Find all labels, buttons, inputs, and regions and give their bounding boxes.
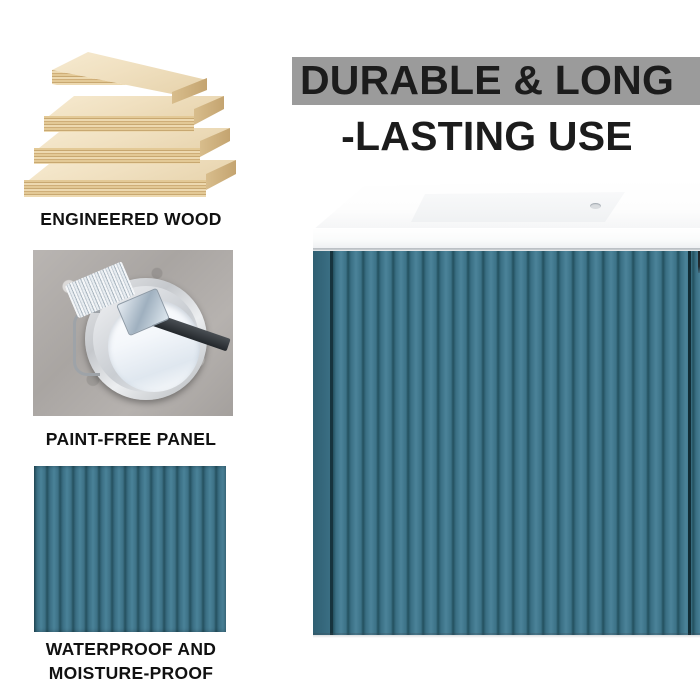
vanity-product-image	[300, 178, 700, 648]
cabinet-door-seam	[688, 251, 691, 635]
faucet-hole	[590, 203, 601, 209]
cabinet-fluted-doors	[333, 251, 700, 635]
product-feature-graphic: DURABLE & LONG -LASTING USE ENGINEERED W…	[0, 0, 700, 700]
headline-block: DURABLE & LONG -LASTING USE	[292, 52, 700, 170]
waterproof-label: WATERPROOF AND MOISTURE-PROOF	[6, 637, 256, 685]
headline-line-2: -LASTING USE	[292, 108, 682, 164]
plywood-sheet-edge	[34, 148, 200, 164]
headline-line-1: DURABLE & LONG	[292, 52, 682, 108]
countertop-front-edge	[313, 228, 700, 250]
paint-free-panel-image	[33, 250, 233, 416]
paint-free-panel-label: PAINT-FREE PANEL	[6, 427, 256, 451]
plywood-sheet-edge	[24, 180, 206, 197]
cabinet-bottom-shadow	[313, 633, 700, 638]
engineered-wood-image	[18, 20, 258, 205]
engineered-wood-label: ENGINEERED WOOD	[6, 207, 256, 231]
paint-can-handle	[73, 310, 100, 376]
plywood-sheet-edge	[44, 116, 194, 132]
vanity-cabinet	[313, 251, 700, 635]
fluted-panel-swatch-image	[34, 466, 226, 632]
cabinet-side-panel	[313, 251, 330, 635]
